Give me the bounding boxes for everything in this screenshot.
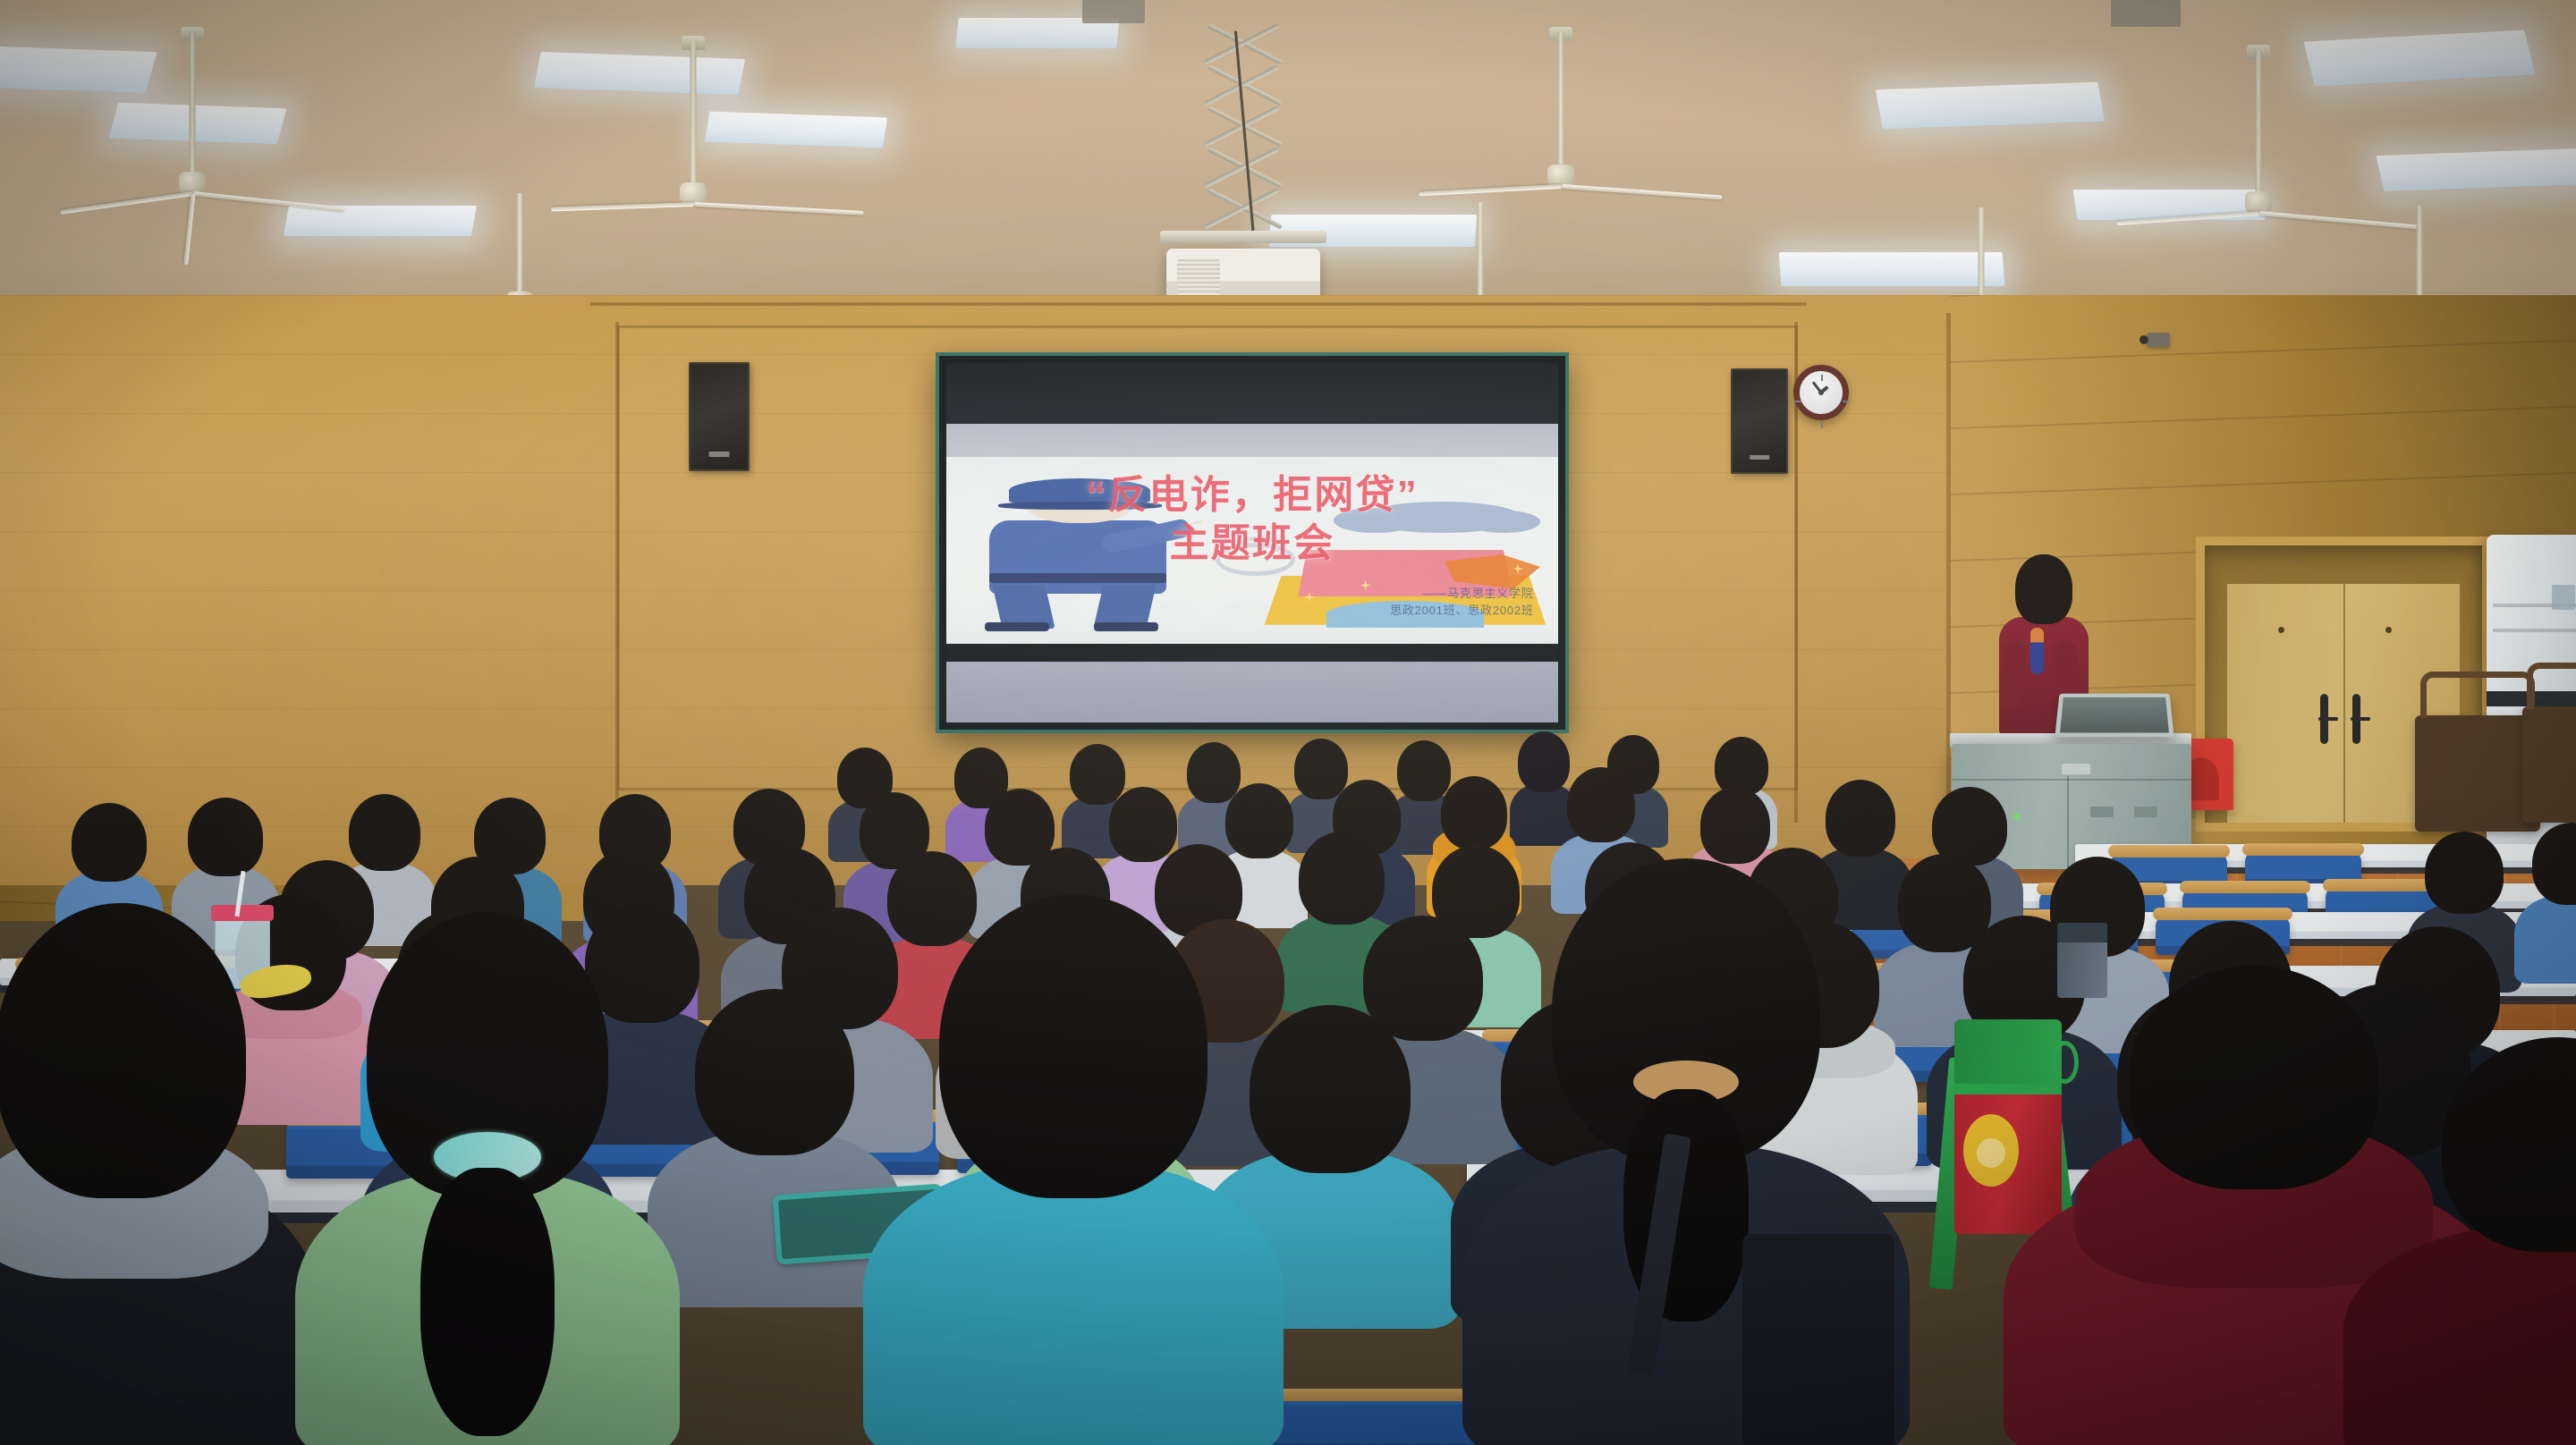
clock-tick: [1843, 401, 1849, 402]
tumbler-cap: [2057, 923, 2107, 942]
wall-seam: [590, 302, 1807, 306]
ceiling-fan: [2245, 50, 2272, 220]
clock-center-pin: [1818, 390, 1824, 395]
presentation-slide: “反电诈，拒网贷” 主题班会 ——马克思主义学院 思政2001班、思政2002班: [946, 457, 1558, 644]
officer-shoe: [1094, 622, 1158, 631]
student-head: [188, 798, 263, 876]
screen-upper-band: [946, 424, 1558, 456]
scissor-segment: [1208, 64, 1278, 106]
student-head: [695, 989, 854, 1155]
ceiling-light-panel: [0, 46, 157, 93]
student-far-right-front: [2406, 1037, 2576, 1445]
projector-assembly: [1127, 5, 1360, 327]
ceiling-fan: [179, 32, 206, 199]
podium-logo: [2062, 764, 2090, 774]
slide-title: “反电诈，拒网贷” 主题班会: [946, 471, 1558, 567]
door-hole: [2385, 627, 2392, 633]
student-grey-hoodie-front: [0, 903, 268, 1445]
left-wall-speaker: [689, 362, 750, 471]
thermos-bottle: [1954, 1019, 2062, 1234]
fan-motor: [680, 182, 707, 204]
podium-label: [2090, 807, 2114, 817]
scissor-segment: [1208, 188, 1278, 229]
door-hole: [2278, 627, 2284, 633]
slide-credit-line1: ——马克思主义学院: [1390, 586, 1534, 603]
clock-tick: [1821, 375, 1823, 381]
lion-graphic: [1963, 1114, 2019, 1187]
student-head: [2129, 966, 2379, 1189]
fan-rod: [517, 193, 523, 295]
wall-seam: [1946, 313, 1951, 849]
fan-rod: [1558, 32, 1564, 168]
fan-rod: [2417, 206, 2423, 304]
student-head: [1441, 776, 1507, 849]
student-head: [2442, 1037, 2576, 1252]
lecture-hall-photo: “反电诈，拒网贷” 主题班会 ——马克思主义学院 思政2001班、思政2002班: [0, 0, 2576, 1445]
ceiling-light-panel: [534, 52, 745, 95]
officer-shoe: [985, 622, 1049, 631]
ponytail: [420, 1168, 555, 1436]
student-head: [1250, 1005, 1411, 1173]
wall-camera: [2147, 333, 2170, 347]
podium-seam: [1952, 779, 2191, 781]
student-body: [2514, 894, 2576, 984]
student-teal-jacket-front: [912, 894, 1234, 1445]
student-right-block: [2522, 823, 2576, 975]
fan-motor: [1547, 165, 1574, 186]
ceiling-light-panel: [1876, 82, 2105, 130]
bottle-cap: [1954, 1019, 2062, 1084]
student-green-jacket-front: [340, 912, 635, 1445]
presenter-hair: [2015, 554, 2072, 624]
student-head: [939, 894, 1207, 1198]
shoulder-bag: [1742, 1234, 1894, 1445]
student-head: [72, 803, 147, 882]
student-head: [2425, 832, 2504, 914]
wooden-chair: [2522, 706, 2576, 823]
student-head: [2532, 823, 2576, 905]
chair-back: [2420, 672, 2536, 718]
projection-screen: “反电诈，拒网贷” 主题班会 ——马克思主义学院 思政2001班、思政2002班: [939, 356, 1565, 730]
podium-seam: [2067, 776, 2069, 869]
chair-back: [2527, 663, 2576, 709]
ceiling-fan: [1547, 32, 1574, 193]
ac-display-panel: [2552, 585, 2575, 610]
fan-motor: [2245, 191, 2272, 213]
clock-tick: [1821, 422, 1823, 428]
ceiling-light-panel: [2376, 148, 2576, 191]
ac-vent-slit: [2493, 629, 2576, 632]
fan-rod: [1478, 202, 1484, 300]
microphone: [2030, 628, 2044, 674]
ceiling-light-panel: [705, 112, 887, 148]
scissor-segment: [1208, 147, 1278, 188]
student-head: [1567, 767, 1635, 842]
scissor-segment: [1208, 23, 1278, 64]
slide-title-line1: “反电诈，拒网贷”: [946, 471, 1558, 520]
slide-credit-line2: 思政2001班、思政2002班: [1390, 603, 1534, 620]
fan-motor: [179, 172, 206, 193]
slide-credit: ——马克思主义学院 思政2001班、思政2002班: [1390, 586, 1534, 620]
student-body: [863, 1162, 1284, 1445]
projector-mount-plate: [1160, 231, 1326, 243]
speaker-logo: [1750, 455, 1769, 461]
clock-tick: [1795, 401, 1801, 402]
fan-rod: [691, 41, 697, 186]
screen-bottom-mask: [946, 662, 1558, 722]
student-head: [1826, 780, 1895, 857]
ceiling-light-panel: [2303, 30, 2535, 86]
speaker-logo: [708, 452, 729, 457]
student-head: [0, 903, 246, 1198]
fan-rod: [1979, 207, 1985, 304]
podium-label: [2134, 807, 2157, 817]
fan-rod: [190, 32, 196, 175]
door-handle-left[interactable]: [2320, 694, 2328, 744]
screen-top-mask: [946, 363, 1558, 424]
ceiling-light-panel: [284, 206, 477, 236]
student-head: [1299, 832, 1385, 925]
wall-clock: [1793, 365, 1849, 420]
ceiling-fan: [680, 41, 707, 211]
door-handle-right[interactable]: [2352, 694, 2360, 744]
slide-title-line2: 主题班会: [946, 520, 1558, 568]
wall-seam: [615, 322, 619, 841]
right-wall-speaker: [1731, 368, 1788, 474]
fan-rod: [2256, 50, 2262, 195]
officer-belt: [989, 573, 1167, 583]
podium-monitor: [2055, 694, 2173, 738]
ceiling-vent: [2111, 0, 2181, 27]
wooden-chair: [2415, 715, 2540, 832]
